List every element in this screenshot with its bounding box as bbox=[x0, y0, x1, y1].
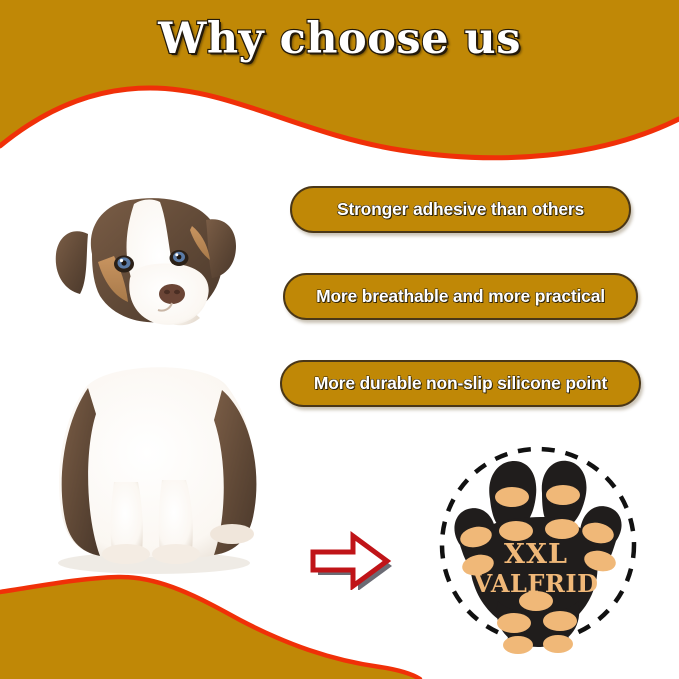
feature-pill-2[interactable]: More breathable and more practical bbox=[283, 273, 638, 320]
puppy-ear-right bbox=[206, 219, 236, 278]
puppy-nose bbox=[159, 284, 185, 304]
silicone-dot bbox=[499, 521, 533, 541]
silicone-dot bbox=[543, 611, 577, 631]
feature-pill-2-label: More breathable and more practical bbox=[316, 286, 605, 307]
paw-pad-svg: XXL VALFRID bbox=[432, 441, 644, 657]
puppy-nostril-right bbox=[174, 290, 180, 294]
right-arrow-svg bbox=[303, 528, 395, 590]
puppy-paw-left bbox=[102, 544, 150, 564]
product-size-text: XXL bbox=[504, 539, 568, 570]
silicone-dot bbox=[495, 487, 529, 507]
silicone-dot bbox=[546, 485, 580, 505]
product-brand-text: VALFRID bbox=[473, 569, 599, 598]
feature-pill-1-label: Stronger adhesive than others bbox=[337, 199, 584, 220]
silicone-dot bbox=[545, 519, 579, 539]
right-arrow-icon bbox=[303, 528, 395, 590]
puppy-nostril-left bbox=[164, 290, 170, 294]
puppy-paw-right bbox=[152, 544, 200, 564]
puppy-leg-front-left bbox=[111, 482, 143, 552]
arrow-body bbox=[313, 536, 387, 586]
feature-pill-3[interactable]: More durable non-slip silicone point bbox=[280, 360, 641, 407]
puppy-eye-glint-left bbox=[120, 259, 123, 262]
puppy-illustration bbox=[26, 182, 281, 582]
puppy-eye-glint-right bbox=[175, 253, 178, 256]
feature-pill-3-label: More durable non-slip silicone point bbox=[314, 373, 607, 394]
header-banner: Why choose us bbox=[0, 0, 679, 165]
silicone-dot bbox=[543, 635, 573, 653]
feature-pill-1[interactable]: Stronger adhesive than others bbox=[290, 186, 631, 233]
silicone-dot bbox=[503, 636, 533, 654]
puppy-photo bbox=[26, 182, 281, 582]
silicone-dot bbox=[497, 613, 531, 633]
puppy-ear-left bbox=[56, 231, 88, 294]
promo-infographic: Why choose us bbox=[0, 0, 679, 679]
puppy-leg-front-right bbox=[159, 480, 193, 552]
puppy-paw-rear bbox=[210, 524, 254, 544]
product-paw-pad: XXL VALFRID bbox=[432, 441, 644, 657]
page-title: Why choose us bbox=[0, 14, 679, 64]
